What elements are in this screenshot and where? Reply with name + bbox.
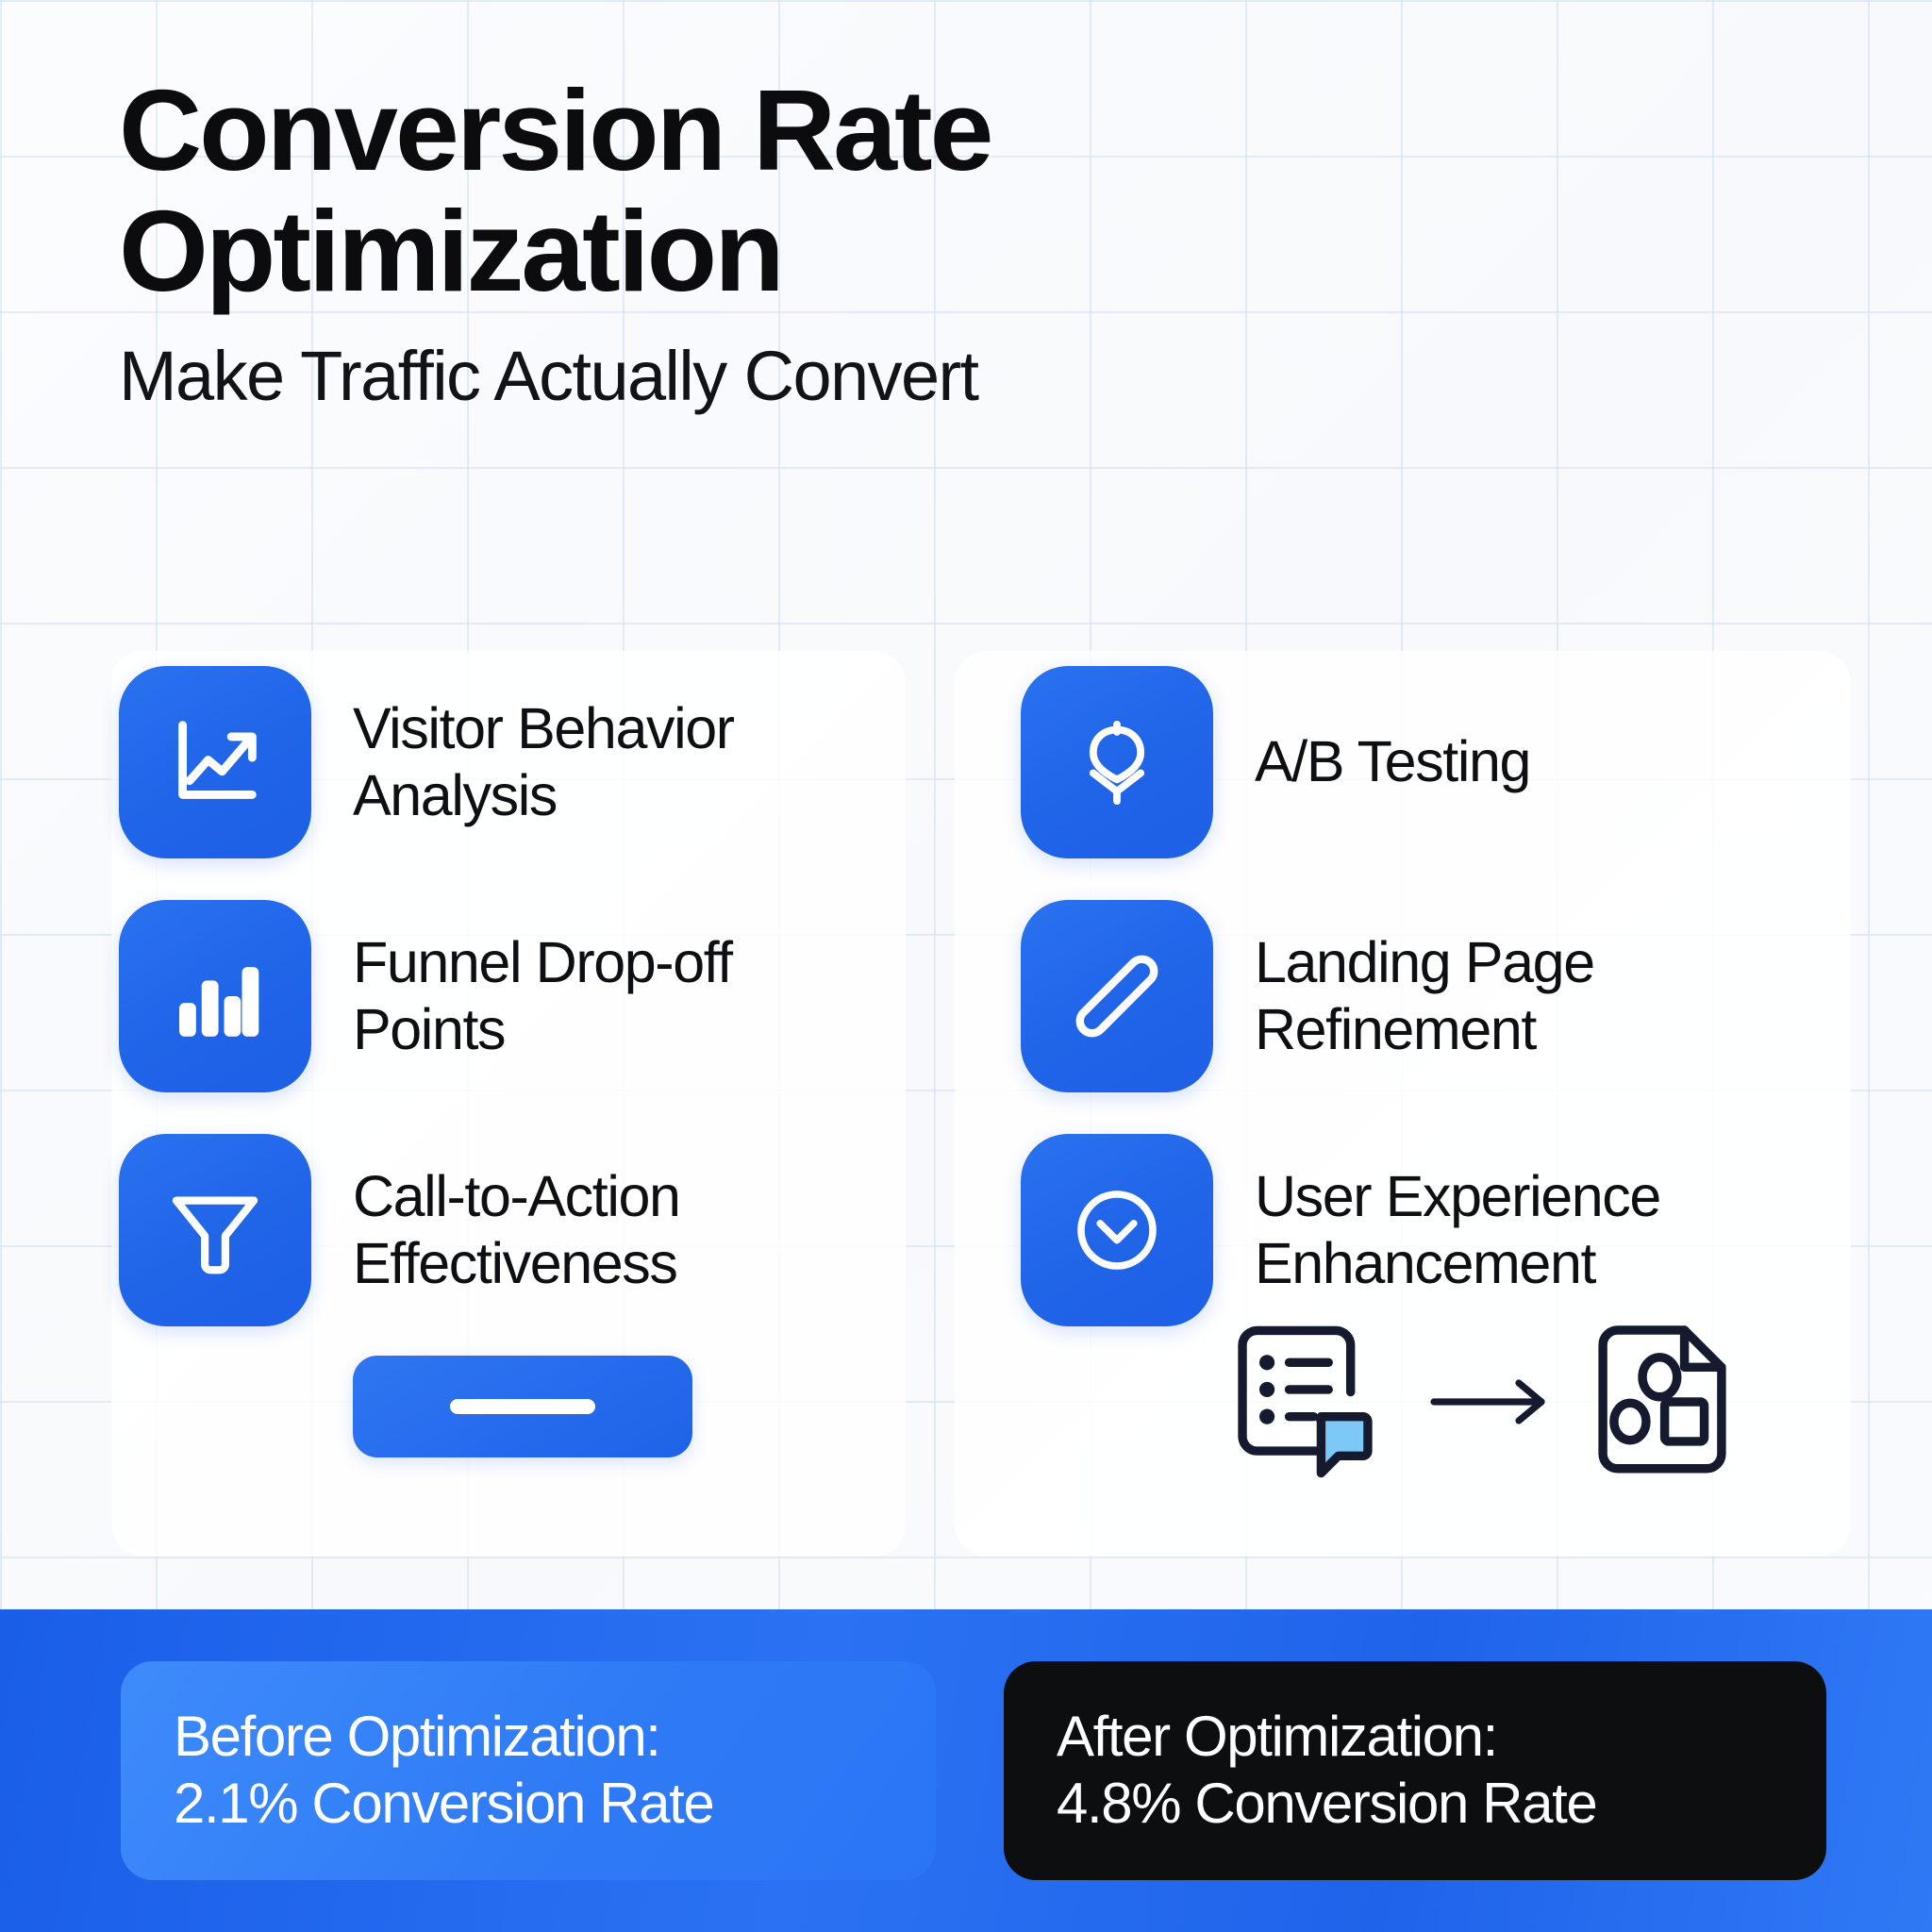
bar-chart-icon (119, 900, 311, 1092)
funnel-icon (119, 1134, 311, 1326)
after-value: 4.8% Conversion Rate (1057, 1771, 1774, 1838)
circle-chevron-down-icon (1021, 1134, 1213, 1326)
feature-label: User Experience Enhancement (1255, 1163, 1660, 1298)
feature-funnel-drop-off-points[interactable]: Funnel Drop-off Points (119, 900, 892, 1092)
feature-label: Call-to-Action Effectiveness (353, 1163, 680, 1298)
before-label: Before Optimization: (174, 1704, 883, 1771)
feature-call-to-action-effectiveness[interactable]: Call-to-Action Effectiveness (119, 1134, 892, 1326)
feature-visitor-behavior-analysis[interactable]: Visitor Behavior Analysis (119, 666, 892, 858)
arrow-right-icon (1428, 1375, 1553, 1433)
design-document-shapes-icon (1591, 1322, 1734, 1487)
pencil-edit-icon (1021, 900, 1213, 1092)
feature-user-experience-enhancement[interactable]: User Experience Enhancement (1021, 1134, 1870, 1326)
feature-ab-testing[interactable]: A/B Testing (1021, 666, 1870, 858)
feature-label: Funnel Drop-off Points (353, 929, 732, 1064)
before-value: 2.1% Conversion Rate (174, 1771, 883, 1838)
feature-landing-page-refinement[interactable]: Landing Page Refinement (1021, 900, 1870, 1092)
page-title: Conversion Rate Optimization (119, 70, 1534, 311)
checklist-document-with-comment-icon (1232, 1321, 1391, 1488)
feature-label: Visitor Behavior Analysis (353, 695, 734, 830)
minus-bar-icon (450, 1399, 595, 1414)
infographic-canvas: Conversion Rate Optimization Make Traffi… (0, 0, 1932, 1932)
header: Conversion Rate Optimization Make Traffi… (119, 70, 1534, 413)
split-test-branch-icon (1021, 666, 1213, 858)
transformation-illustration (1232, 1321, 1734, 1488)
feature-label: A/B Testing (1255, 728, 1530, 795)
stat-card-after: After Optimization: 4.8% Conversion Rate (1004, 1661, 1826, 1880)
primary-action-button[interactable] (353, 1356, 692, 1457)
feature-label: Landing Page Refinement (1255, 929, 1594, 1064)
after-label: After Optimization: (1057, 1704, 1774, 1771)
page-subtitle: Make Traffic Actually Convert (119, 340, 1534, 413)
before-after-band: Before Optimization: 2.1% Conversion Rat… (0, 1609, 1932, 1932)
stat-card-before: Before Optimization: 2.1% Conversion Rat… (121, 1661, 936, 1880)
line-chart-trend-up-icon (119, 666, 311, 858)
